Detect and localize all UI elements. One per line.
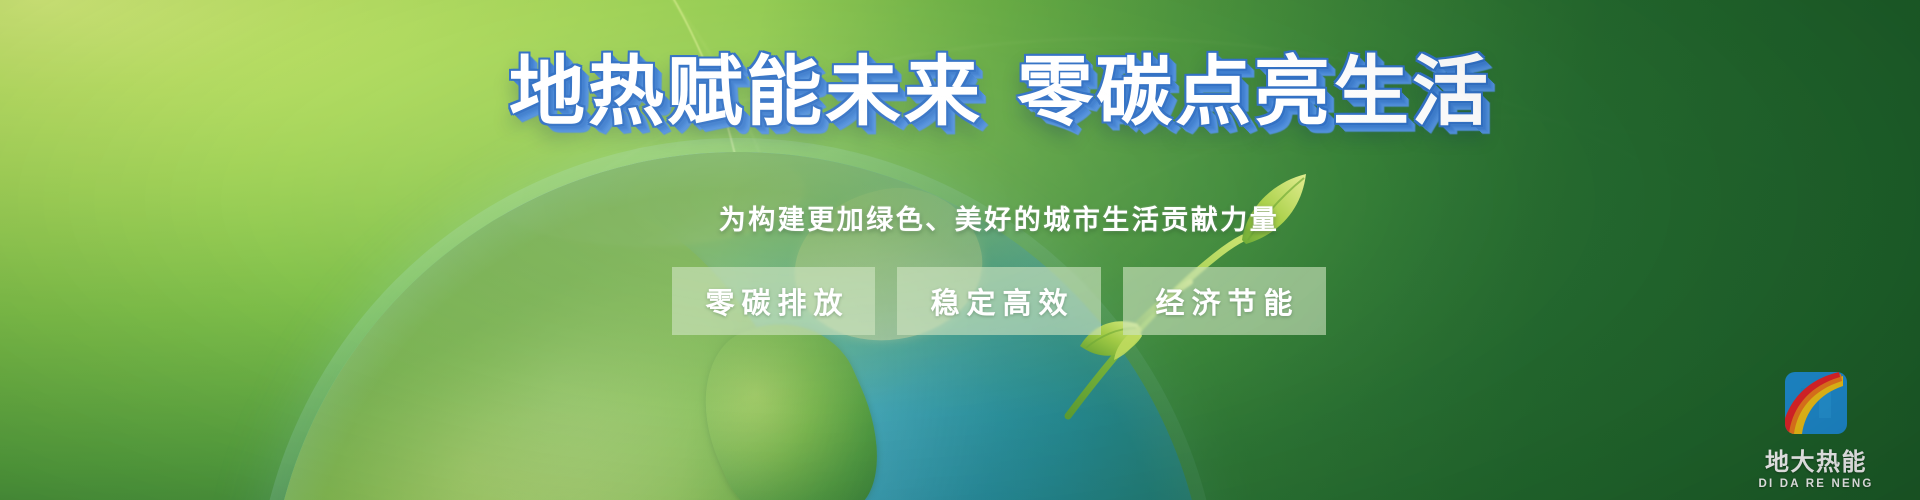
promo-banner: 地热赋能未来零碳点亮生活 为构建更加绿色、美好的城市生活贡献力量 零碳排放 稳定… <box>0 0 1920 500</box>
banner-vignette <box>0 0 1920 500</box>
